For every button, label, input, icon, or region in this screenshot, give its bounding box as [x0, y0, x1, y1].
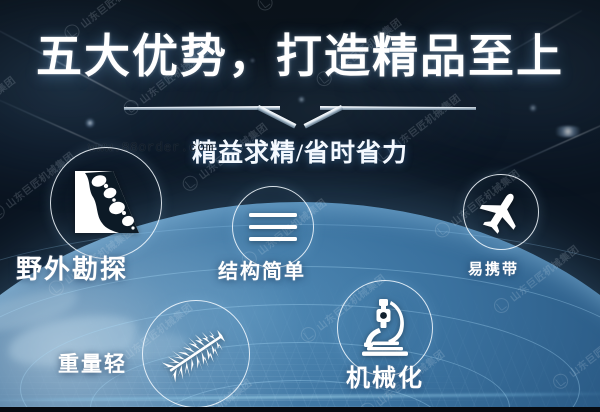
lens-flare-icon [529, 104, 537, 112]
feature-lightweight [142, 300, 250, 408]
promo-banner: 山东巨匠机械集团山东巨匠机械集团山东巨匠机械集团山东巨匠机械集团山东巨匠机械集团… [0, 0, 600, 412]
feature-label-lightweight: 重量轻 [58, 348, 127, 378]
feature-label-structure: 结构简单 [218, 255, 306, 284]
feature-label-mechanized: 机械化 [346, 358, 424, 393]
feather-leaf-icon [142, 300, 250, 408]
airplane-icon [463, 174, 539, 250]
feature-label-portable: 易携带 [468, 258, 519, 279]
divider-chevron-icon [263, 105, 337, 127]
feature-survey [50, 147, 162, 259]
feature-label-survey: 野外勘探 [16, 249, 128, 286]
feature-portable [463, 174, 539, 250]
mountain-terrain-icon [50, 147, 162, 259]
lens-flare-icon [85, 118, 95, 128]
headline-title: 五大优势，打造精品至上 [0, 32, 600, 82]
bottom-strip [0, 407, 600, 412]
chevron-divider [124, 103, 476, 129]
lens-flare-icon [298, 96, 305, 103]
